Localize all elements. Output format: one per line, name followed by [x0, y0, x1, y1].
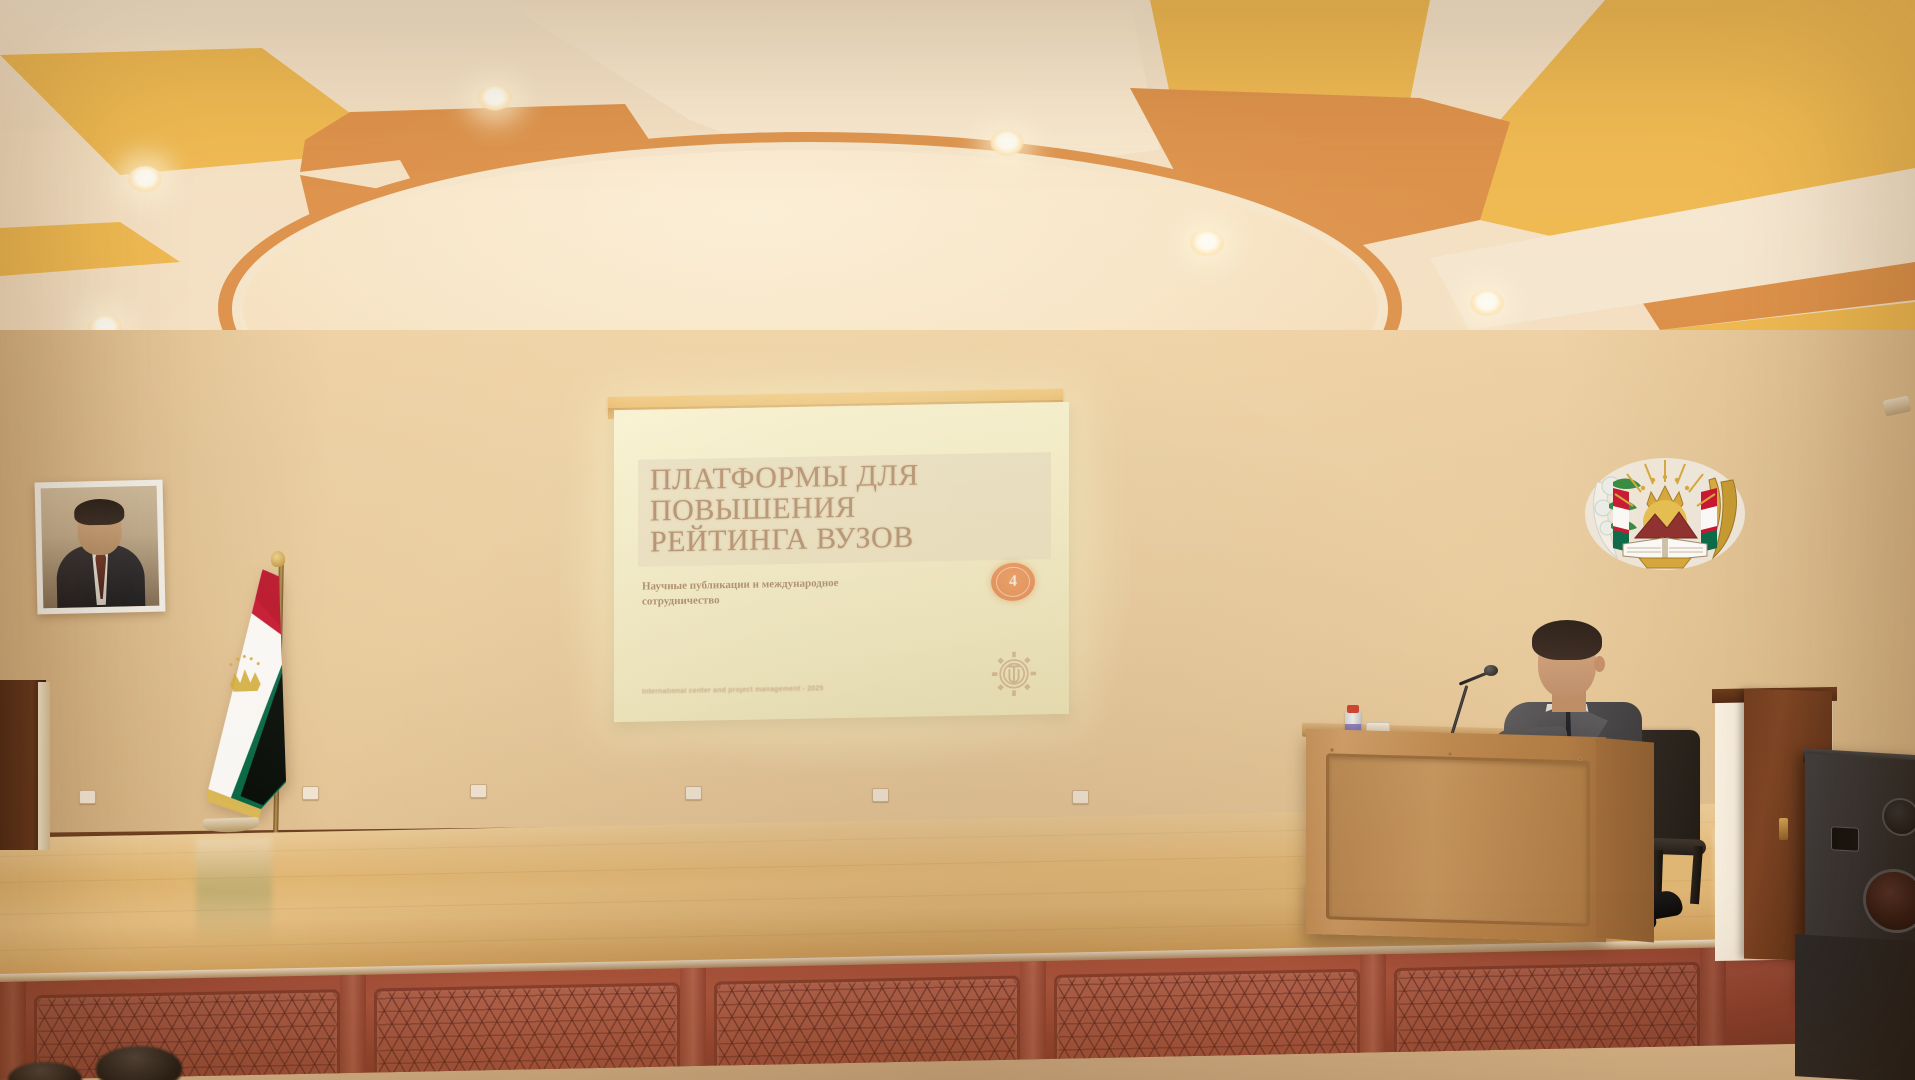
floor-reflection-flag	[196, 837, 272, 947]
podium-front-panel	[1326, 753, 1590, 926]
door-handle-icon[interactable]	[1779, 818, 1788, 840]
podium-screw	[1330, 748, 1334, 752]
flag-of-tajikistan	[193, 569, 288, 822]
university-gear-logo-icon	[991, 650, 1037, 697]
water-bottle-cap-icon	[1347, 705, 1359, 713]
slide-title-line-3: РЕЙТИНГА ВУЗОВ	[650, 520, 1039, 558]
ceiling-downlight-3	[478, 85, 512, 111]
slide-footer-text: International center and project managem…	[642, 685, 824, 695]
wall-outlet-2	[302, 786, 319, 800]
wall-outlet-4	[685, 786, 702, 800]
wall-outlet-1	[79, 790, 96, 804]
left-doorway-light	[38, 682, 50, 850]
ceiling-downlight-5	[1190, 230, 1224, 256]
speaker-ear	[1594, 656, 1605, 672]
podium-side-panel	[1596, 737, 1654, 942]
wall-outlet-6	[1072, 790, 1089, 804]
portrait-photo	[41, 486, 160, 609]
slide-subtitle: Научные публикации и международное сотру…	[642, 575, 892, 609]
emblem-base	[1639, 558, 1691, 568]
wall-outlet-3	[470, 784, 487, 798]
flag-finial-icon	[271, 551, 285, 567]
wall-outlet-5	[872, 788, 889, 802]
podium-screw	[1448, 752, 1452, 756]
slide-title-band: ПЛАТФОРМЫ ДЛЯ ПОВЫШЕНИЯ РЕЙТИНГА ВУЗОВ	[638, 452, 1051, 566]
presidential-portrait	[35, 480, 166, 615]
state-emblem-of-tajikistan	[1583, 452, 1748, 572]
portrait-hair	[74, 498, 125, 525]
presentation-slide: ПЛАТФОРМЫ ДЛЯ ПОВЫШЕНИЯ РЕЙТИНГА ВУЗОВ Н…	[614, 402, 1069, 722]
ceiling-downlight-4	[990, 130, 1024, 156]
podium-screw	[1578, 757, 1582, 761]
projection-screen: ПЛАТФОРМЫ ДЛЯ ПОВЫШЕНИЯ РЕЙТИНГА ВУЗОВ Н…	[614, 402, 1069, 722]
loudspeaker-port	[1832, 827, 1858, 851]
slide-title: ПЛАТФОРМЫ ДЛЯ ПОВЫШЕНИЯ РЕЙТИНГА ВУЗОВ	[650, 458, 1039, 558]
ceiling-downlight-1	[128, 166, 162, 192]
slide-number-badge: 4	[991, 562, 1035, 601]
ceiling-downlight-6	[1470, 290, 1504, 316]
loudspeaker-lower-cabinet	[1795, 934, 1915, 1080]
speaker-hair	[1532, 620, 1602, 660]
conference-hall-photo: ПЛАТФОРМЫ ДЛЯ ПОВЫШЕНИЯ РЕЙТИНГА ВУЗОВ Н…	[0, 0, 1915, 1080]
